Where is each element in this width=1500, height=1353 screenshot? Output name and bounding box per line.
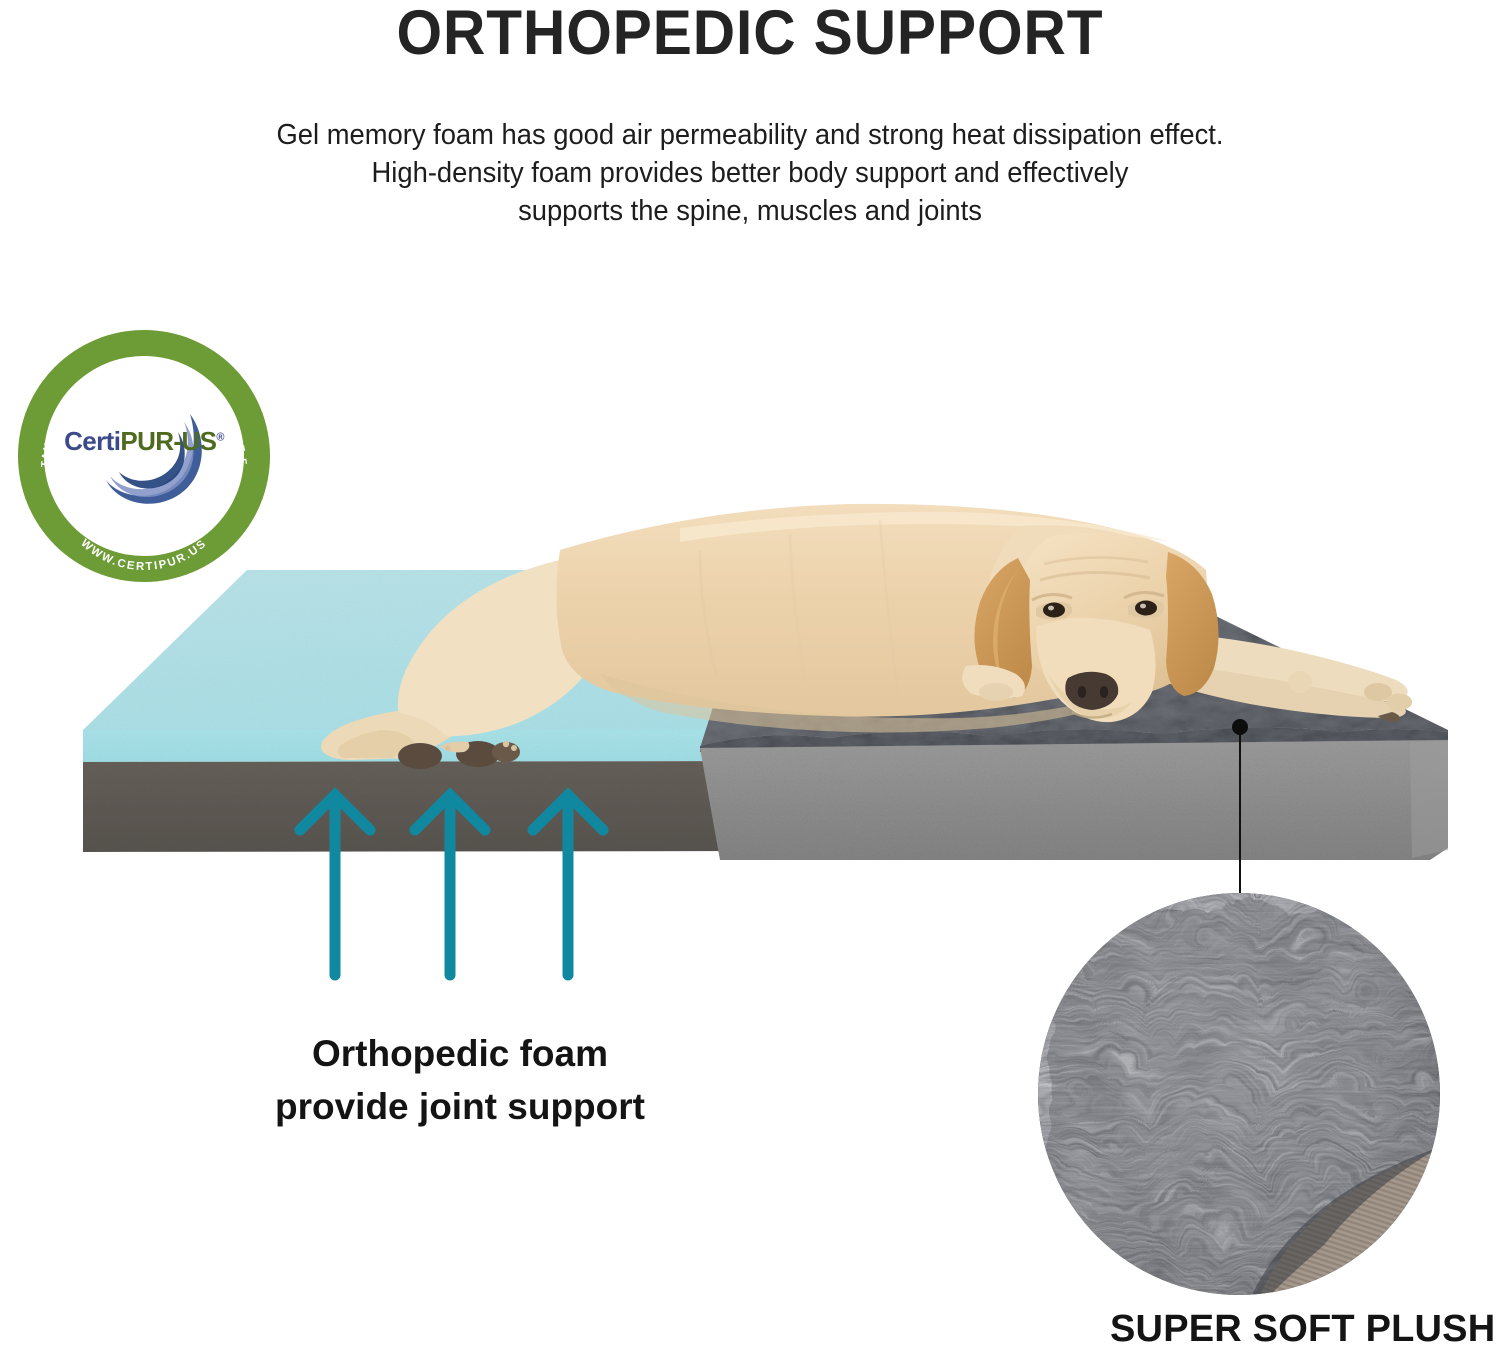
subtitle-line-1: Gel memory foam has good air permeabilit… [30,117,1470,155]
dog-ear-right [1166,552,1219,696]
badge-word-purus: PUR-US [120,426,216,456]
header-block: ORTHOPEDIC SUPPORT Gel memory foam has g… [0,0,1500,231]
badge-center-wordmark: CertiPUR-US® [18,426,270,457]
badge-registered-mark: ® [216,431,224,443]
foam-label-line-2: provide joint support [175,1081,745,1134]
product-illustration [0,430,1500,930]
badge-word-certi: Certi [64,426,120,456]
orthopedic-foam-label: Orthopedic foam provide joint support [175,1028,745,1133]
page-title: ORTHOPEDIC SUPPORT [53,0,1448,65]
subtitle-paragraph: Gel memory foam has good air permeabilit… [30,117,1470,231]
bed-side-wall [700,740,1448,860]
subtitle-line-3: supports the spine, muscles and joints [30,193,1470,231]
callout-anchor-dot [1232,719,1248,735]
callout-leader-line [1239,727,1241,895]
super-soft-plush-label: SUPER SOFT PLUSH [1110,1308,1495,1351]
subtitle-line-2: High-density foam provides better body s… [30,155,1470,193]
plush-texture-zoom [1038,893,1440,1295]
plush-detail-circle [1038,893,1440,1295]
bed-diagram [0,430,1500,930]
foam-label-line-1: Orthopedic foam [175,1028,745,1081]
